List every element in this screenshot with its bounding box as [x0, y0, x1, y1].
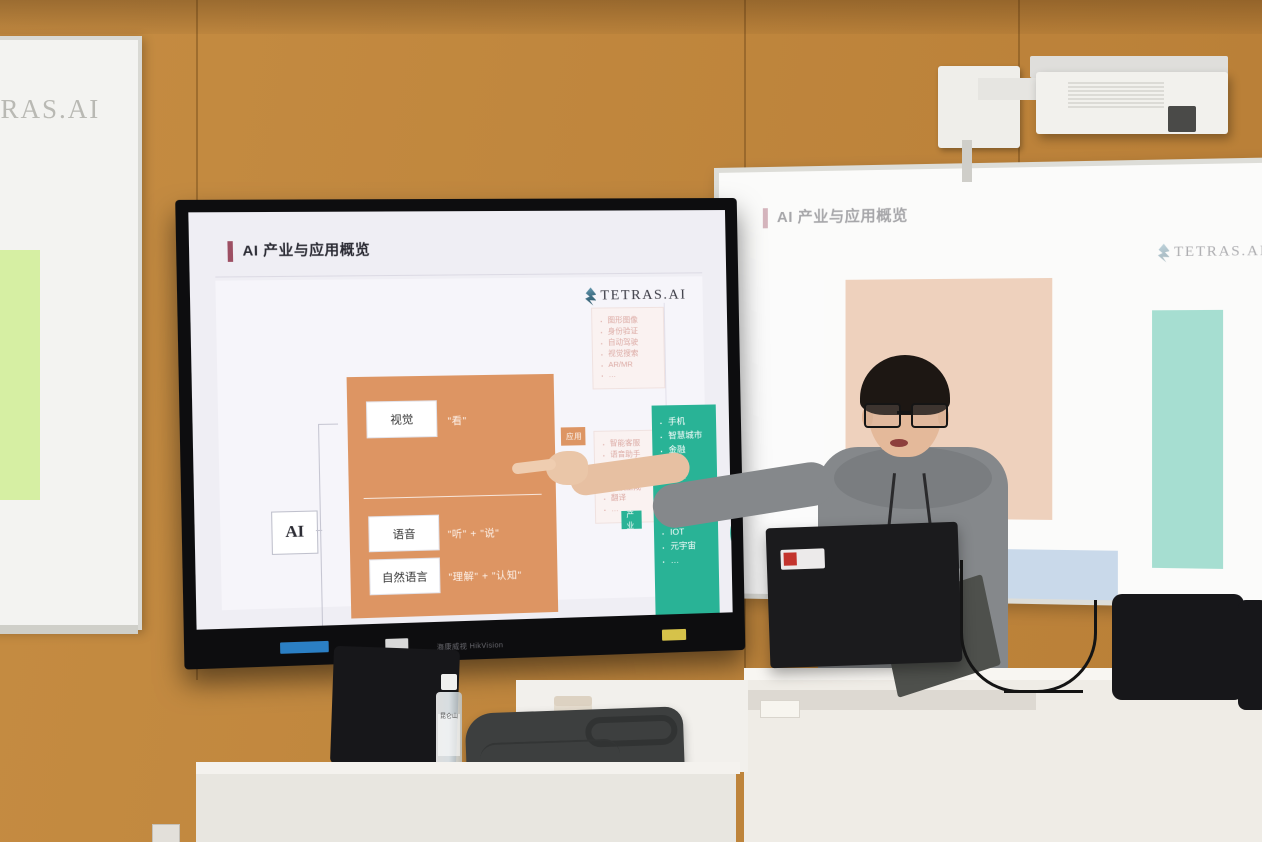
bezel-sticker-yellow: [662, 629, 686, 641]
arrow-application: 应用: [561, 427, 586, 446]
glasses-lens-right: [911, 403, 948, 428]
ai-root-node: AI: [271, 510, 318, 555]
wall-display-tv[interactable]: AI 产业与应用概览 TETRAS.AI AI 视觉 "看: [175, 198, 745, 670]
list-item: 视觉搜索: [599, 348, 658, 360]
arrow-application-label: 应用: [566, 431, 582, 442]
projector-cable-conduit: [962, 140, 972, 182]
proj-title-accent: [763, 208, 768, 228]
capability-box-vision: 视觉: [366, 400, 438, 438]
capability-box-speech: 语音: [368, 515, 440, 553]
capability-caption-nlp: "理解" + "认知": [448, 566, 522, 583]
list-item: IOT: [660, 525, 712, 540]
podium-monitor[interactable]: [766, 522, 963, 669]
proj-title: AI 产业与应用概览: [777, 204, 908, 227]
list-item: 手机: [658, 415, 710, 430]
podium-label-slip: [760, 700, 800, 718]
bottle-cap: [441, 674, 457, 690]
wall-power-socket: [152, 824, 180, 842]
left-board-projection-spill: [0, 250, 40, 500]
chair[interactable]: [1238, 600, 1262, 710]
list-item: 身份验证: [598, 326, 657, 338]
application-list-top: 图形图像 身份验证 自动驾驶 视觉搜索 AR/MR …: [591, 307, 665, 390]
bottle-label-text: 昆仑山: [438, 714, 460, 722]
projector-lens: [1168, 106, 1196, 132]
proj-logo: TETRAS.AI: [1158, 243, 1262, 263]
capability-divider: [364, 494, 542, 499]
monitor-asset-tag: [780, 548, 825, 570]
whiteboard-tray: [0, 625, 138, 634]
slide-logo: TETRAS.AI: [585, 287, 687, 306]
glasses-bridge: [897, 411, 911, 414]
arrow-industry: 产业: [621, 511, 642, 530]
slide-title: AI 产业与应用概览: [242, 239, 370, 260]
mouth: [890, 439, 908, 447]
qr-code-icon: [783, 552, 796, 565]
slide-logo-text: TETRAS.AI: [600, 288, 687, 305]
tv-screen: AI 产业与应用概览 TETRAS.AI AI 视觉 "看: [188, 210, 732, 630]
list-item: 元宇宙: [660, 539, 712, 554]
capability-block: 视觉 "看" 语音 "听" + "说" 自然语言 "理解" + "认知": [347, 374, 559, 619]
left-board-logo-text: TRAS.AI: [0, 94, 100, 125]
list-item: …: [660, 552, 712, 567]
list-item: 图形图像: [598, 315, 657, 327]
bezel-sticker-blue: [280, 641, 329, 654]
capability-caption-speech: "听" + "说": [448, 524, 500, 541]
list-item: 智慧城市: [658, 428, 710, 443]
slide-ai-industry-overview: AI 产业与应用概览 TETRAS.AI AI 视觉 "看: [188, 210, 732, 630]
glasses-icon: [864, 403, 948, 425]
wall-shadow-top: [0, 0, 1262, 34]
projector-vent: [1068, 82, 1164, 108]
slide-body: TETRAS.AI AI 视觉 "看" 语音 "听" + "说" 自然语言: [215, 276, 708, 610]
capability-box-nlp: 自然语言: [369, 557, 441, 595]
proj-industry-block: [1152, 310, 1223, 569]
front-desk: [196, 770, 736, 842]
chair[interactable]: [1112, 594, 1244, 700]
tetras-leaf-icon: [585, 287, 597, 305]
tetras-leaf-icon: [1158, 244, 1170, 263]
list-item: …: [599, 370, 658, 382]
proj-logo-text: TETRAS.AI: [1174, 244, 1262, 262]
front-desk-top: [196, 762, 740, 774]
bottle-label: 昆仑山: [438, 714, 460, 756]
left-whiteboard: TRAS.AI: [0, 36, 142, 630]
capability-caption-vision: "看": [447, 412, 467, 428]
title-accent-bar: [227, 241, 233, 262]
lecture-room-photo: TRAS.AI AI 产业与应用概览 TETRAS.AI AI 产业与应用概: [0, 0, 1262, 842]
list-item: 自动驾驶: [599, 337, 658, 349]
arrow-industry-label: 产业: [626, 509, 642, 532]
branch-bracket: [318, 424, 343, 630]
cup-lid: [554, 696, 592, 706]
glasses-lens-left: [864, 403, 901, 428]
